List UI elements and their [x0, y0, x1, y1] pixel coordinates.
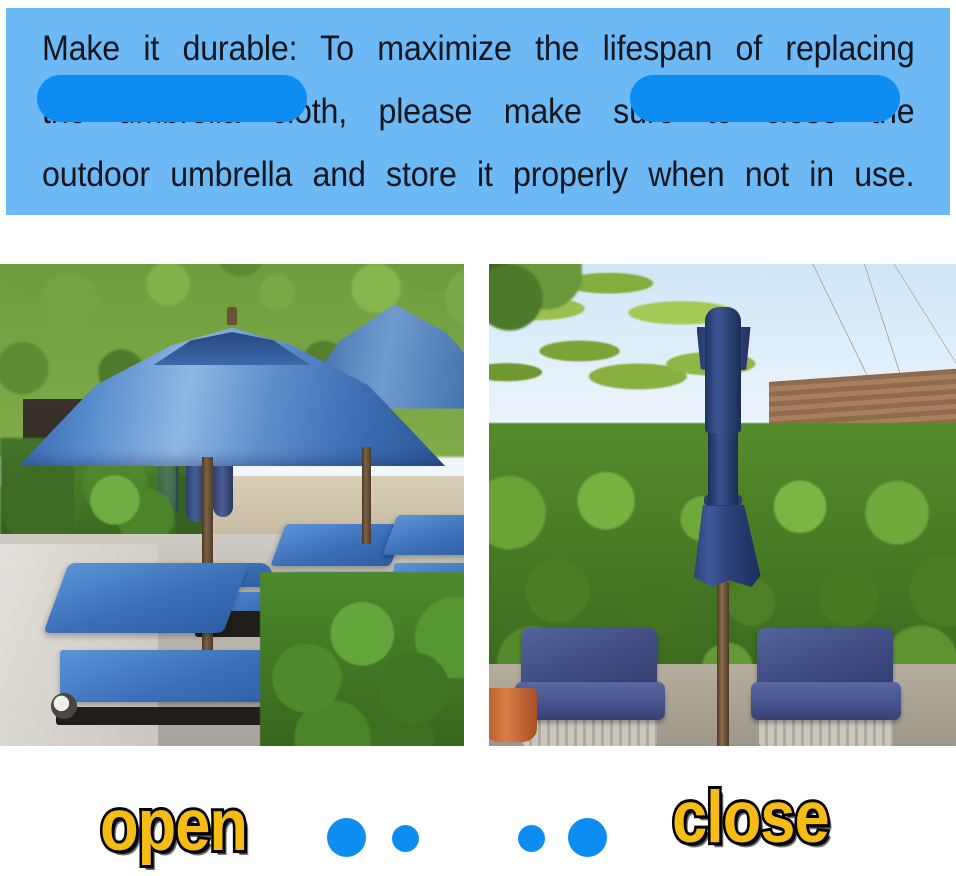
umbrella-pole — [717, 582, 729, 746]
foreground-bush — [260, 572, 464, 746]
open-umbrella-scene — [0, 264, 464, 746]
instruction-line-1: Make it durable: To maximize the lifespa… — [42, 17, 914, 80]
umbrella-finial — [227, 307, 237, 325]
chair-left — [515, 628, 667, 746]
chair-left-back-cushion — [521, 628, 657, 690]
open-pill-background — [37, 75, 307, 122]
chair-left-seat-cushion — [515, 682, 665, 720]
umbrella-canopy-closed — [705, 307, 741, 432]
chair-right-back-cushion — [757, 628, 893, 690]
umbrella-pole-secondary — [362, 447, 371, 543]
decorative-dot-left-large — [327, 818, 366, 857]
close-pill-background — [630, 75, 900, 122]
lounger-back-near — [43, 563, 248, 633]
chair-right-seat-cushion — [751, 682, 901, 720]
instruction-line-3: outdoor umbrella and store it properly w… — [42, 143, 914, 206]
open-label: open — [100, 790, 247, 863]
lounger-back-far2 — [382, 515, 464, 555]
photo-open-umbrella — [0, 264, 464, 746]
closed-umbrella-scene — [489, 264, 956, 746]
terracotta-pot — [489, 688, 537, 742]
umbrella-canopy-mid — [708, 423, 738, 505]
decorative-dot-left-small — [392, 825, 419, 852]
decorative-dot-right-small — [518, 825, 545, 852]
chair-right — [751, 628, 903, 746]
lounger-wheel — [51, 693, 77, 719]
photo-row — [0, 264, 956, 746]
close-label: close — [672, 782, 829, 855]
photo-closed-umbrella — [489, 264, 956, 746]
decorative-dot-right-large — [568, 818, 607, 857]
background-tree — [489, 264, 582, 360]
